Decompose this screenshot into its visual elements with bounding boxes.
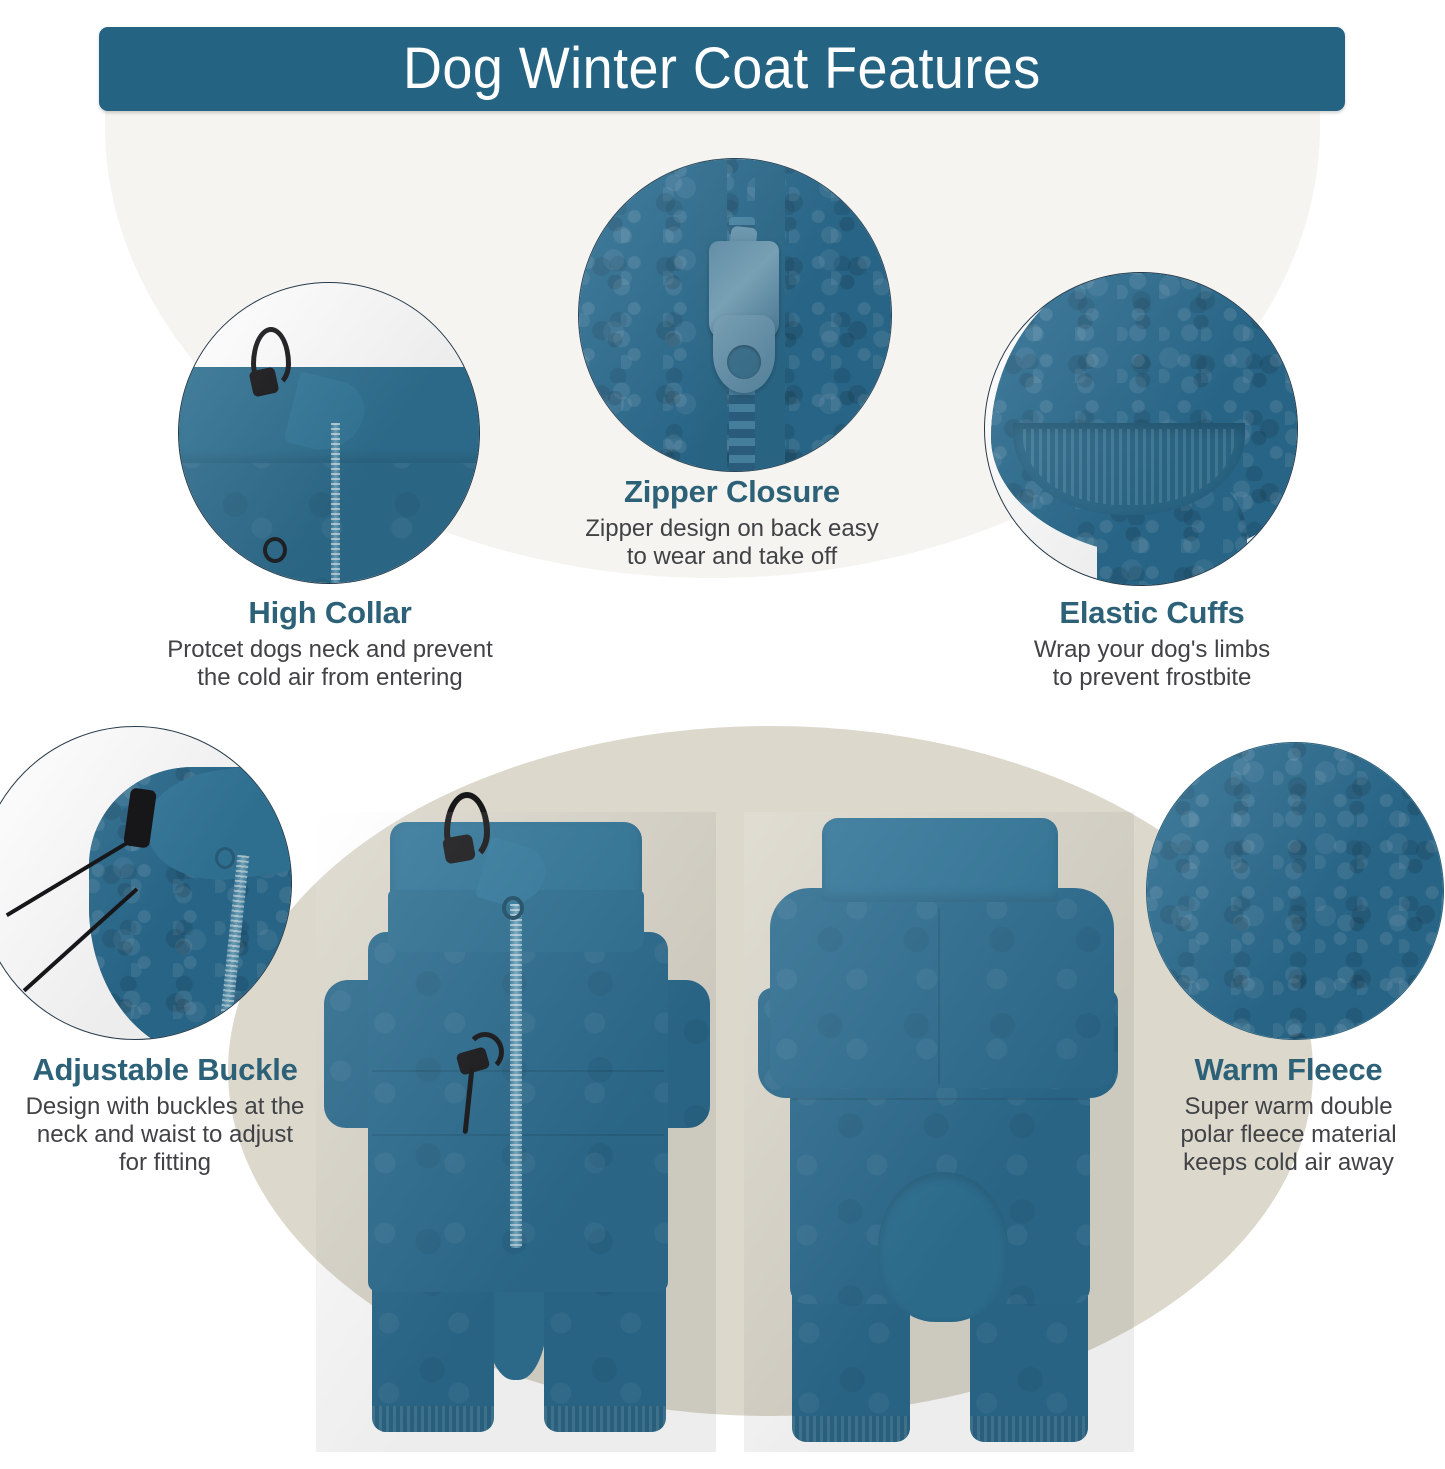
feature-adjustable-buckle: Adjustable Buckle Design with buckles at…	[0, 1053, 330, 1177]
back-collar	[822, 818, 1058, 902]
drawstring-toggle-icon	[249, 367, 280, 398]
back-cuff-right	[970, 1416, 1088, 1442]
feature-title-high-collar: High Collar	[118, 596, 542, 630]
feature-elastic-cuffs: Elastic Cuffs Wrap your dog's limbs to p…	[940, 596, 1364, 692]
feature-desc-zipper-closure: Zipper design on back easy to wear and t…	[520, 515, 944, 571]
feature-desc-elastic-cuffs: Wrap your dog's limbs to prevent frostbi…	[940, 636, 1364, 692]
front-zipper-icon	[510, 904, 522, 1248]
back-shoulder-panel	[770, 888, 1114, 1088]
buckle-eyelet-icon	[215, 847, 235, 869]
header-banner: Dog Winter Coat Features	[99, 27, 1345, 111]
front-eyelet-icon	[502, 896, 524, 920]
feature-title-elastic-cuffs: Elastic Cuffs	[940, 596, 1364, 630]
product-front-view	[316, 812, 716, 1452]
feature-title-zipper-closure: Zipper Closure	[520, 475, 944, 509]
collar-eyelet-icon	[263, 537, 287, 563]
warm-fleece-image	[1146, 742, 1444, 1040]
infographic-canvas: Dog Winter Coat Features	[0, 0, 1445, 1469]
zipper-pull-hole-icon	[727, 345, 761, 379]
product-back-view	[744, 812, 1134, 1452]
front-cuff-left	[372, 1406, 494, 1432]
feature-high-collar: High Collar Protcet dogs neck and preven…	[118, 596, 542, 692]
zipper-closure-image	[578, 158, 892, 472]
high-collar-image	[178, 282, 480, 584]
feature-zipper-closure: Zipper Closure Zipper design on back eas…	[520, 475, 944, 571]
feature-title-adjustable-buckle: Adjustable Buckle	[0, 1053, 330, 1087]
front-drawstring-toggle-icon	[442, 834, 476, 865]
back-center-seam	[938, 908, 940, 1084]
back-cuff-left	[792, 1416, 910, 1442]
feature-desc-adjustable-buckle: Design with buckles at the neck and wais…	[0, 1093, 330, 1176]
feature-desc-high-collar: Protcet dogs neck and prevent the cold a…	[118, 636, 542, 692]
elastic-cuffs-image	[984, 272, 1298, 586]
page-title: Dog Winter Coat Features	[403, 40, 1041, 98]
collar-zipper-icon	[331, 423, 340, 584]
feature-desc-warm-fleece: Super warm double polar fleece material …	[1136, 1093, 1441, 1176]
feature-title-warm-fleece: Warm Fleece	[1136, 1053, 1441, 1087]
adjustable-buckle-image	[0, 726, 292, 1040]
back-opening	[878, 1172, 1008, 1322]
front-cuff-right	[544, 1406, 666, 1432]
back-waist-seam	[792, 1098, 1088, 1100]
feature-warm-fleece: Warm Fleece Super warm double polar flee…	[1136, 1053, 1441, 1177]
fleece-texture-swatch	[1147, 743, 1443, 1039]
